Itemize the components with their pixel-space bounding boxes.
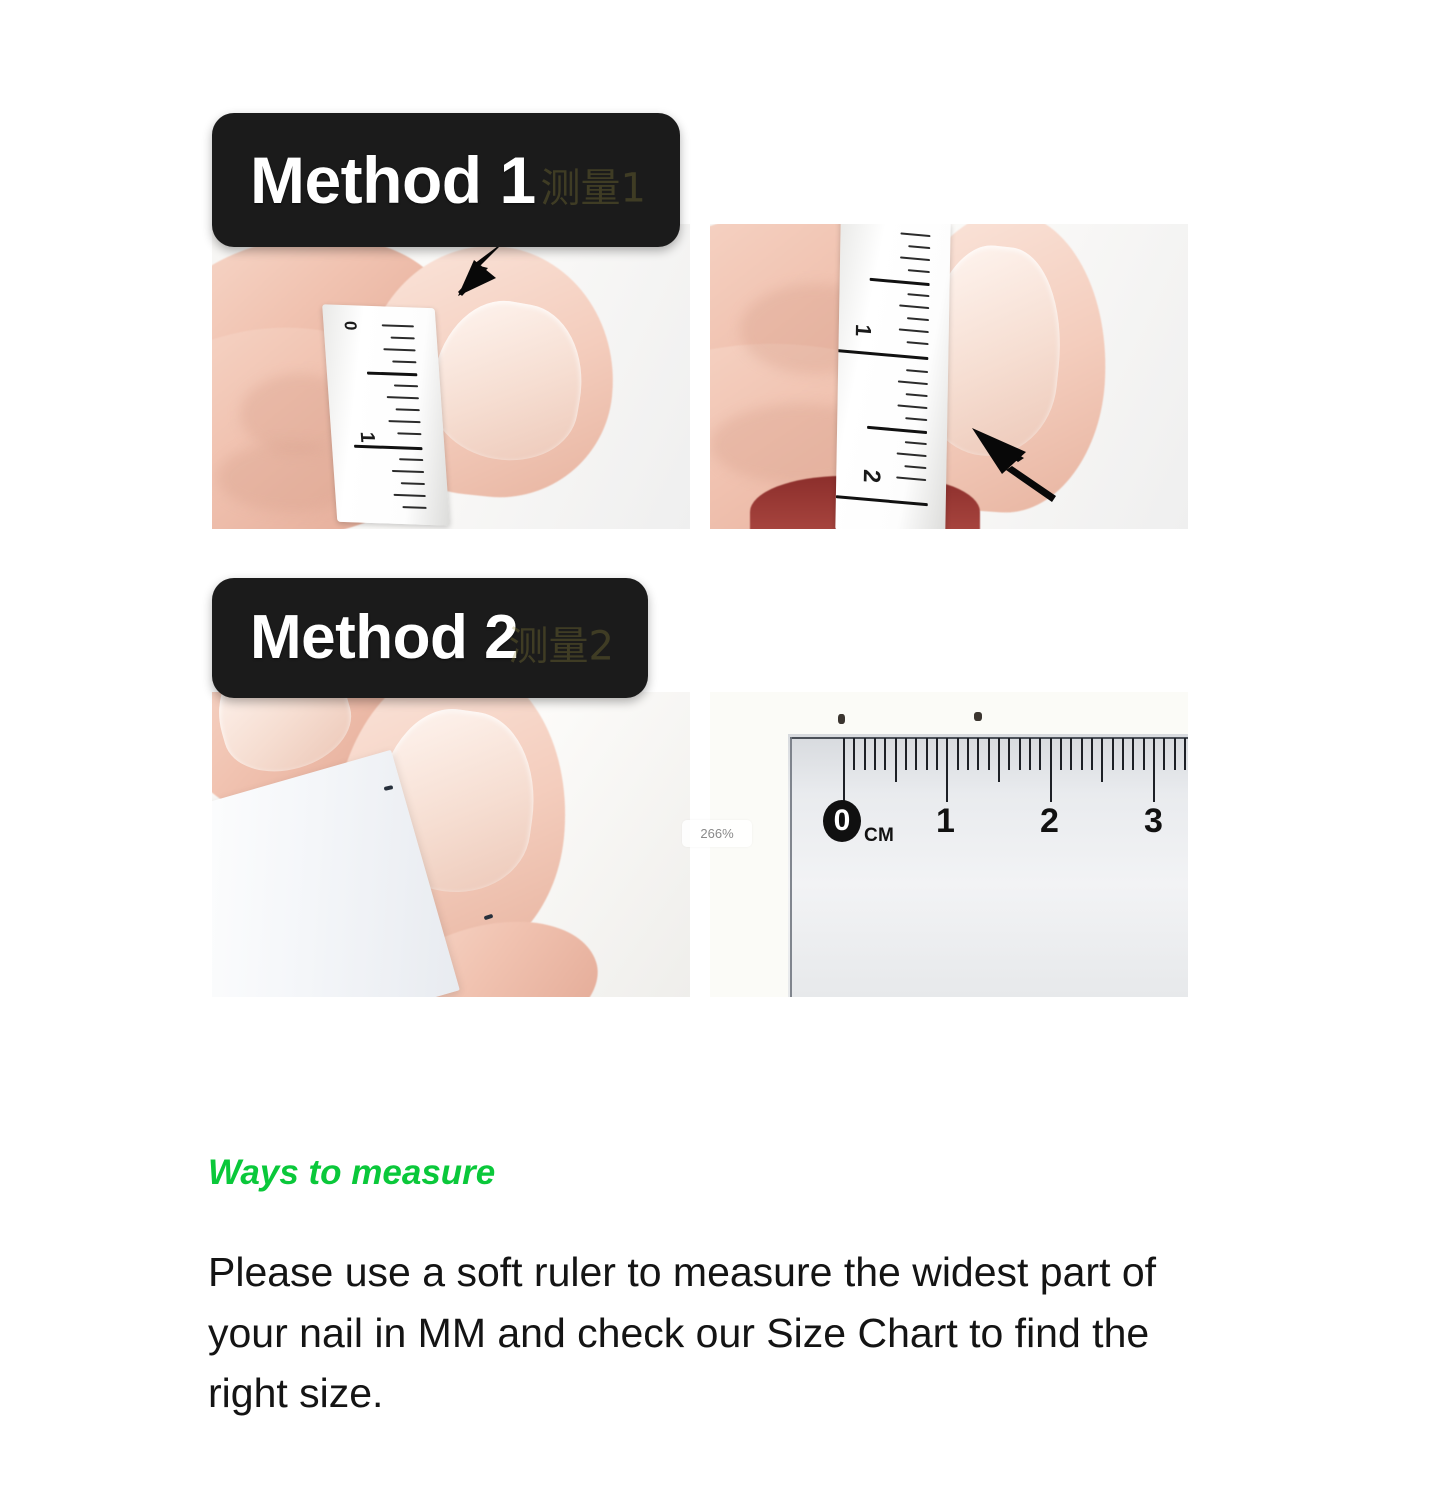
tape-number-2: 2 xyxy=(859,468,883,483)
dust-speck xyxy=(838,714,845,724)
soft-tape-strip: 1 2 xyxy=(835,224,950,529)
measure-instructions: Ways to measure Please use a soft ruler … xyxy=(208,1155,1248,1424)
method-2-badge: 测量2 Method 2 xyxy=(212,578,648,698)
ways-to-measure-heading: Ways to measure xyxy=(208,1155,1248,1190)
method-1-photo-row: 0 1 xyxy=(212,224,1188,529)
ruler-label-3: 3 xyxy=(1144,804,1163,838)
method-1-label: Method 1 xyxy=(250,147,536,213)
zoom-level-indicator: 266% xyxy=(682,820,752,847)
photo-plastic-ruler: 0 CM 1 2 3 xyxy=(710,692,1188,997)
ruler-graphic: 0 CM 1 2 3 xyxy=(710,692,1188,997)
ruler-label-2: 2 xyxy=(1040,804,1059,838)
photo-finger-with-paper-strip xyxy=(212,692,690,997)
photo-finger-with-tape-front: 0 1 xyxy=(212,224,690,529)
tape-number-1: 1 xyxy=(852,323,874,337)
ruler-unit-label: CM xyxy=(864,825,894,847)
up-left-arrow-icon xyxy=(966,416,1062,517)
soft-tape-strip: 0 1 xyxy=(322,304,450,525)
ruler-label-1: 1 xyxy=(936,804,955,838)
method-2-ghost-text: 测量2 xyxy=(509,614,614,672)
tape-number-0: 0 xyxy=(342,321,360,331)
ruler-zero-badge: 0 xyxy=(823,800,861,842)
tape-number-1: 1 xyxy=(357,431,378,443)
measure-instruction-paragraph: Please use a soft ruler to measure the w… xyxy=(208,1242,1238,1424)
method-2-label: Method 2 xyxy=(250,607,518,669)
method-1-badge: 测量1 Method 1 xyxy=(212,113,680,247)
dust-speck xyxy=(974,712,982,721)
method-1-ghost-text: 测量1 xyxy=(541,156,646,214)
photo-finger-with-tape-side: 1 2 xyxy=(710,224,1188,529)
